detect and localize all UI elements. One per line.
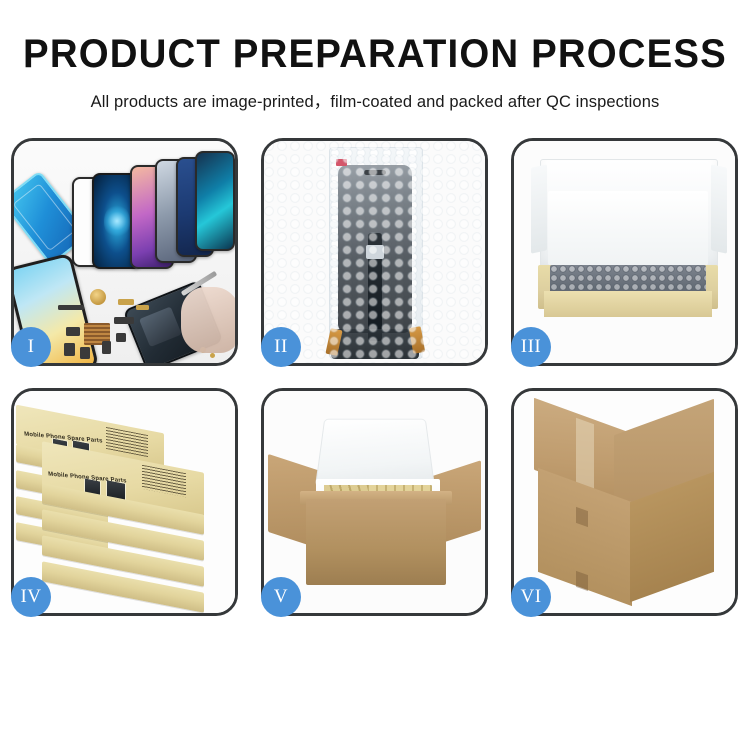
foam-sheet: [548, 191, 708, 265]
step-5-image: [264, 391, 485, 613]
step-badge-2: II: [261, 327, 301, 367]
step-6-image: [514, 391, 735, 613]
process-step-panel-4[interactable]: Mobile Phone Spare Parts Mobile Phone Sp…: [11, 388, 238, 616]
step-badge-3: III: [511, 327, 551, 367]
process-step-panel-1[interactable]: I: [11, 138, 238, 366]
part-small-chip: [116, 333, 126, 342]
retail-box-stack: Mobile Phone Spare Parts Mobile Phone Sp…: [14, 391, 235, 613]
step-badge-4: IV: [11, 577, 51, 617]
step-badge-1: I: [11, 327, 51, 367]
bubble-wrapped-contents: [550, 265, 706, 293]
process-step-panel-2[interactable]: II: [261, 138, 488, 366]
flex-connector: [366, 245, 384, 259]
part-gold-contact: [136, 305, 149, 310]
gold-tray-front-wall: [544, 291, 712, 317]
red-label-sticker: [336, 159, 347, 166]
carton-body: [306, 499, 446, 585]
part-camera-module: [66, 327, 80, 336]
foam-lid-raised: [315, 419, 435, 487]
technician-hand: [181, 287, 235, 353]
page-subtitle: All products are image-printed，film-coat…: [0, 88, 750, 112]
part-antenna-strip: [58, 305, 84, 310]
step-3-image: [514, 141, 735, 363]
step-2-image: [264, 141, 485, 363]
page-title: PRODUCT PREPARATION PROCESS: [15, 34, 735, 74]
step-1-image: [14, 141, 235, 363]
screen-lower-section: [331, 329, 419, 359]
step-badge-5: V: [261, 577, 301, 617]
part-buzzer: [64, 343, 75, 356]
process-step-panel-5[interactable]: V: [261, 388, 488, 616]
part-power-flex: [114, 317, 134, 324]
step-4-image: Mobile Phone Spare Parts Mobile Phone Sp…: [14, 391, 235, 613]
process-step-panel-3[interactable]: III: [511, 138, 738, 366]
phone-cyan-wave: [195, 151, 235, 251]
page-header: PRODUCT PREPARATION PROCESS All products…: [0, 0, 750, 112]
part-sim-tray: [102, 341, 111, 354]
process-step-panel-6[interactable]: VI: [511, 388, 738, 616]
part-vibration-motor: [90, 289, 106, 305]
part-taptic-engine: [80, 347, 90, 359]
part-screw-b: [210, 353, 215, 358]
process-step-grid: I II III: [11, 138, 739, 616]
part-gold-flex: [118, 299, 134, 305]
step-badge-6: VI: [511, 577, 551, 617]
